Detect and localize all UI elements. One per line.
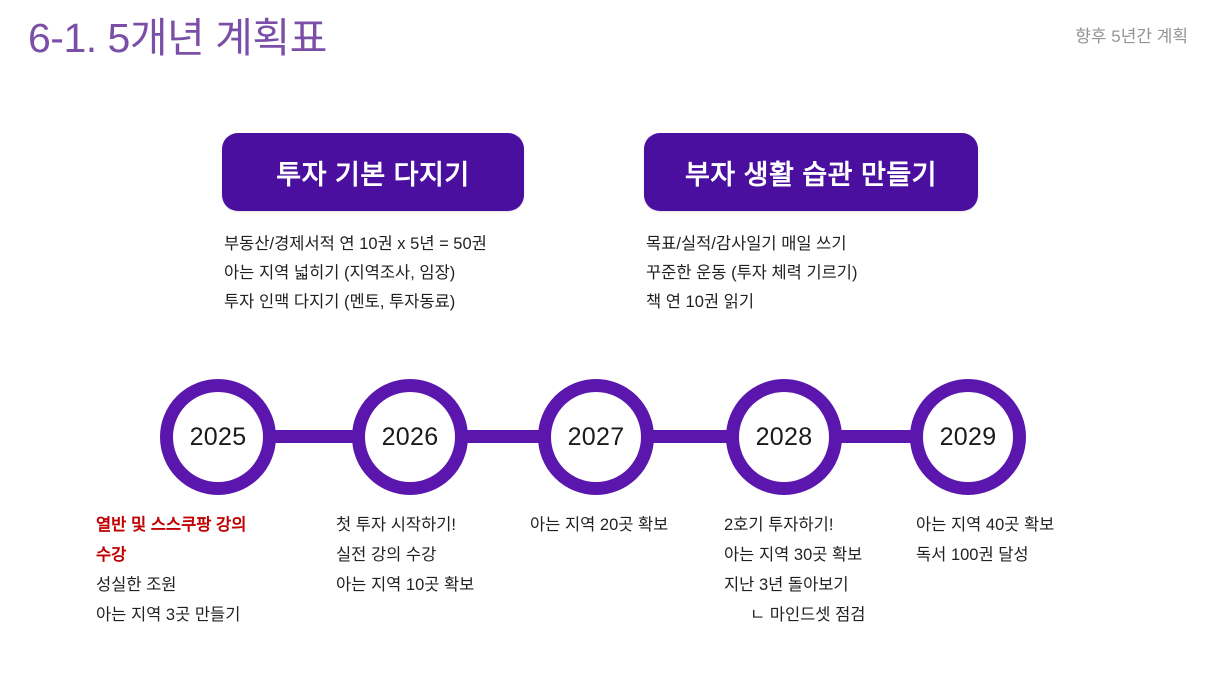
theme-line: 부동산/경제서적 연 10권 x 5년 = 50권	[224, 230, 524, 259]
theme-pill-investment-basics[interactable]: 투자 기본 다지기	[222, 133, 524, 211]
timeline-node-label: 2026	[382, 423, 439, 452]
timeline-node-2029[interactable]: 2029	[910, 379, 1026, 495]
theme-line: 꾸준한 운동 (투자 체력 기르기)	[646, 259, 978, 288]
timeline-node-2027[interactable]: 2027	[538, 379, 654, 495]
year-detail-line: 아는 지역 30곳 확보	[724, 540, 865, 570]
year-details-2029: 아는 지역 40곳 확보 독서 100권 달성	[916, 510, 1054, 570]
year-detail-line: ㄴ 마인드셋 점검	[724, 600, 865, 630]
theme-group-investment-basics: 투자 기본 다지기 부동산/경제서적 연 10권 x 5년 = 50권 아는 지…	[222, 133, 524, 317]
page-title: 6-1. 5개년 계획표	[28, 14, 327, 62]
timeline-connector	[836, 430, 918, 443]
year-detail-line: 2호기 투자하기!	[724, 510, 865, 540]
year-detail-line: 아는 지역 20곳 확보	[530, 510, 668, 540]
year-details-2025: 열반 및 스스쿠팡 강의 수강 성실한 조원 아는 지역 3곳 만들기	[96, 510, 246, 630]
year-detail-line: 아는 지역 40곳 확보	[916, 510, 1054, 540]
timeline-node-label: 2028	[756, 423, 813, 452]
theme-line: 투자 인맥 다지기 (멘토, 투자동료)	[224, 288, 524, 317]
year-details-2027: 아는 지역 20곳 확보	[530, 510, 668, 540]
theme-group-rich-habits: 부자 생활 습관 만들기 목표/실적/감사일기 매일 쓰기 꾸준한 운동 (투자…	[644, 133, 978, 317]
year-detail-line: 첫 투자 시작하기!	[336, 510, 474, 540]
year-detail-line: 아는 지역 10곳 확보	[336, 570, 474, 600]
timeline-node-label: 2025	[190, 423, 247, 452]
timeline-node-2028[interactable]: 2028	[726, 379, 842, 495]
slide-canvas: 6-1. 5개년 계획표 향후 5년간 계획 투자 기본 다지기 부동산/경제서…	[0, 0, 1216, 684]
theme-line-list: 목표/실적/감사일기 매일 쓰기 꾸준한 운동 (투자 체력 기르기) 책 연 …	[644, 230, 978, 317]
theme-line-list: 부동산/경제서적 연 10권 x 5년 = 50권 아는 지역 넓히기 (지역조…	[222, 230, 524, 317]
year-detail-line: 성실한 조원	[96, 570, 246, 600]
timeline-node-2025[interactable]: 2025	[160, 379, 276, 495]
theme-pill-rich-habits[interactable]: 부자 생활 습관 만들기	[644, 133, 978, 211]
year-detail-line: 지난 3년 돌아보기	[724, 570, 865, 600]
year-details-2028: 2호기 투자하기! 아는 지역 30곳 확보 지난 3년 돌아보기 ㄴ 마인드셋…	[724, 510, 865, 630]
theme-line: 목표/실적/감사일기 매일 쓰기	[646, 230, 978, 259]
theme-line: 아는 지역 넓히기 (지역조사, 임장)	[224, 259, 524, 288]
timeline-connector	[648, 430, 734, 443]
year-detail-line: 독서 100권 달성	[916, 540, 1054, 570]
timeline-node-label: 2029	[940, 423, 997, 452]
timeline: 2025 2026 2027 2028 2029	[0, 379, 1216, 497]
timeline-connector	[272, 430, 360, 443]
timeline-node-label: 2027	[568, 423, 625, 452]
header-note: 향후 5년간 계획	[1075, 22, 1188, 47]
year-detail-line: 열반 및 스스쿠팡 강의	[96, 510, 246, 540]
theme-line: 책 연 10권 읽기	[646, 288, 978, 317]
timeline-node-2026[interactable]: 2026	[352, 379, 468, 495]
timeline-connector	[462, 430, 546, 443]
year-detail-line: 실전 강의 수강	[336, 540, 474, 570]
year-detail-line: 수강	[96, 540, 246, 570]
year-detail-line: 아는 지역 3곳 만들기	[96, 600, 246, 630]
year-details-2026: 첫 투자 시작하기! 실전 강의 수강 아는 지역 10곳 확보	[336, 510, 474, 600]
